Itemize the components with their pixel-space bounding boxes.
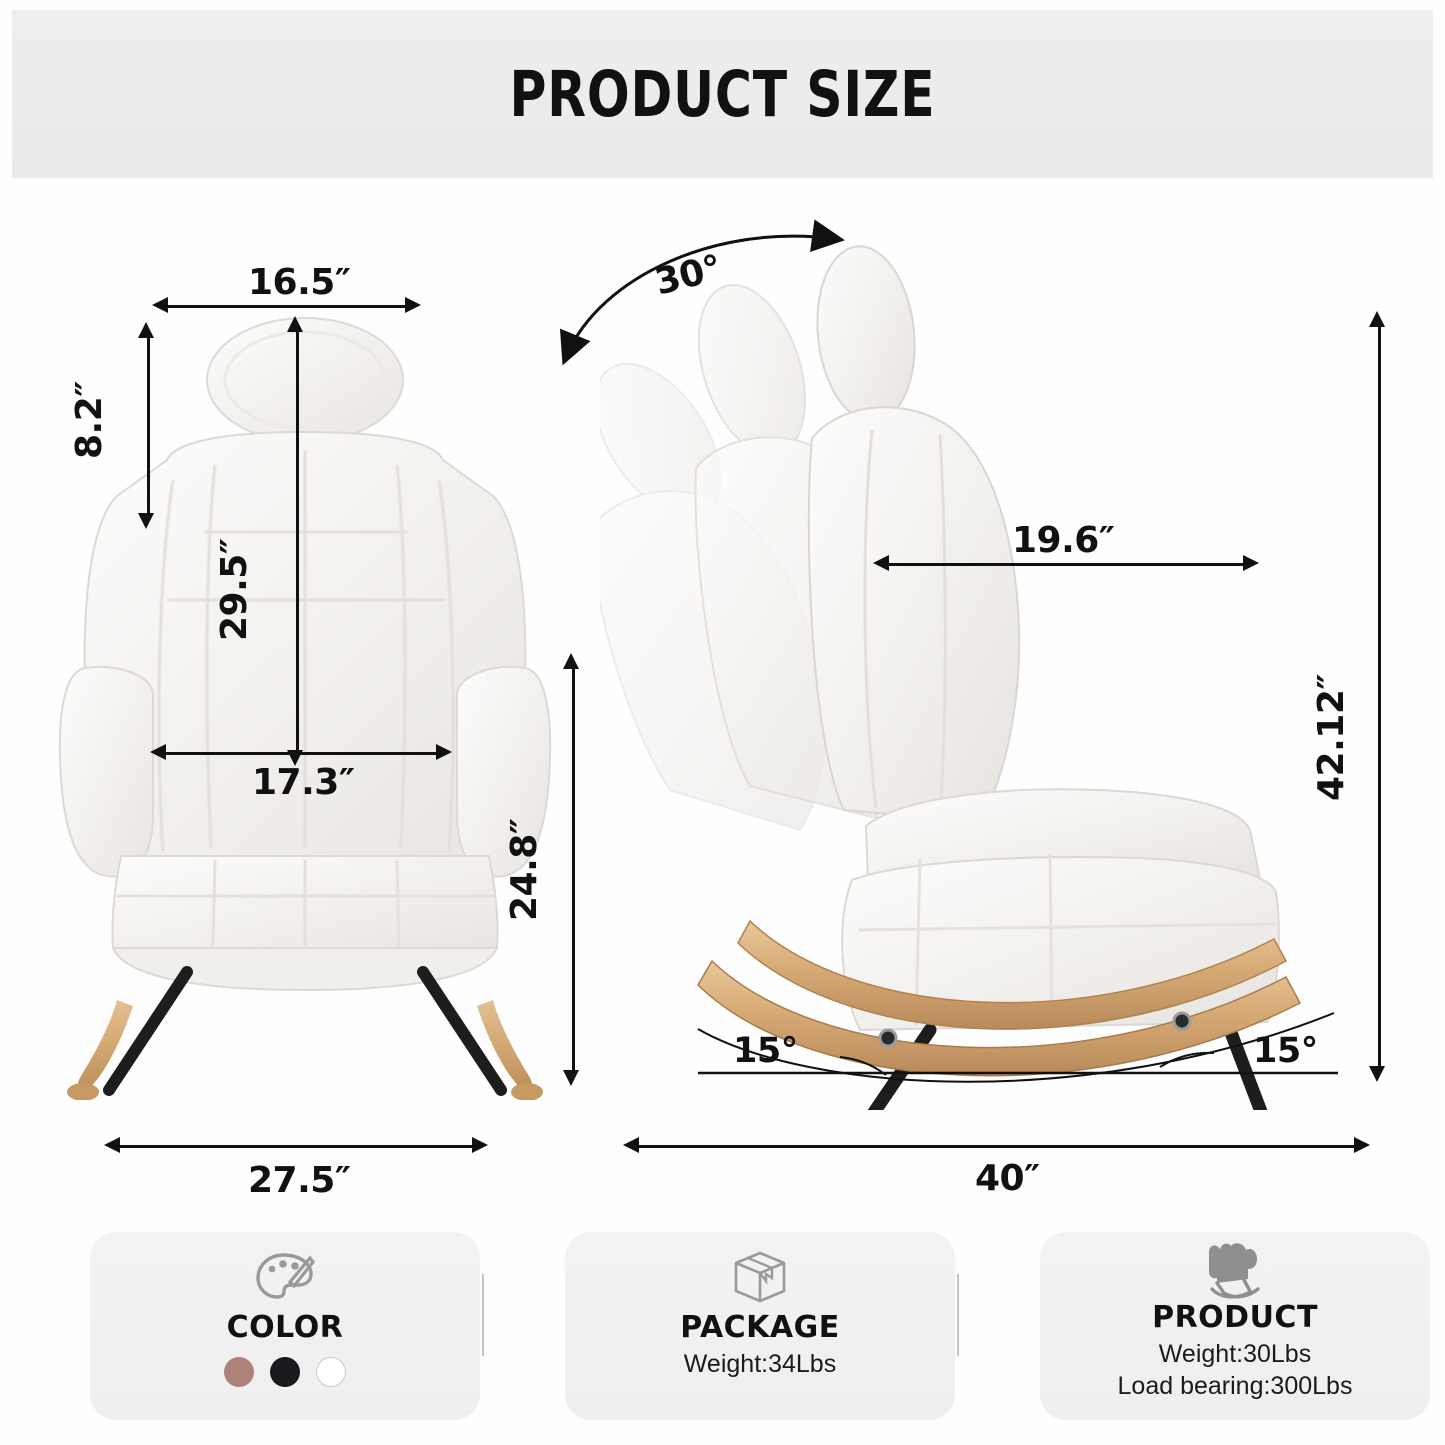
- left-arm: [60, 667, 153, 877]
- package-weight: Weight:34Lbs: [684, 1350, 836, 1379]
- page-title: PRODUCT SIZE: [154, 10, 1291, 178]
- header-band: PRODUCT SIZE: [12, 10, 1433, 178]
- side-backrest: [809, 407, 1019, 822]
- front-view-chair-illustration: [55, 300, 555, 1100]
- swatch-mauve[interactable]: [224, 1357, 254, 1387]
- dimension-label-headrest-height: 8.2″: [69, 381, 110, 459]
- dimension-label-backrest-height: 29.5″: [214, 539, 255, 641]
- card-title-product: PRODUCT: [1152, 1300, 1318, 1335]
- dimension-label-overall-width: 27.5″: [248, 1160, 350, 1201]
- color-swatches[interactable]: [224, 1357, 346, 1387]
- swatch-black[interactable]: [270, 1357, 300, 1387]
- rocker-screw-right: [1174, 1013, 1190, 1029]
- rocker-angle-arc-right: [1160, 1053, 1214, 1067]
- dimension-label-rocker-angle-right: 15°: [1253, 1031, 1318, 1071]
- palette-icon: [254, 1246, 316, 1308]
- card-divider-1: [482, 1274, 484, 1356]
- product-size-infographic: PRODUCT SIZE: [0, 0, 1445, 1445]
- dimension-label-seat-depth: 19.6″: [1012, 520, 1114, 561]
- info-cards: COLOR PACKAGE Weight:34Lbs: [0, 1232, 1445, 1422]
- dimension-label-rocker-angle-left: 15°: [733, 1031, 798, 1071]
- card-product[interactable]: PRODUCT Weight:30Lbs Load bearing:300Lbs: [1040, 1232, 1430, 1420]
- rocking-chair-icon: [1204, 1238, 1266, 1300]
- dimension-label-headrest-width: 16.5″: [248, 262, 350, 303]
- swatch-white[interactable]: [316, 1357, 346, 1387]
- headrest-cushion: [207, 318, 403, 442]
- product-load-bearing: Load bearing:300Lbs: [1118, 1372, 1353, 1401]
- product-weight: Weight:30Lbs: [1159, 1340, 1311, 1369]
- card-package[interactable]: PACKAGE Weight:34Lbs: [565, 1232, 955, 1420]
- dimension-label-seat-to-floor-height: 24.8″: [504, 819, 545, 921]
- card-color[interactable]: COLOR: [90, 1232, 480, 1420]
- dimension-recline-angle-arc: [540, 215, 860, 375]
- card-divider-2: [957, 1274, 959, 1356]
- card-title-color: COLOR: [227, 1310, 344, 1345]
- right-rocker-tip: [477, 1000, 532, 1094]
- dimension-label-overall-depth: 40″: [975, 1158, 1040, 1199]
- card-title-package: PACKAGE: [680, 1310, 840, 1345]
- left-rocker-tip: [78, 1000, 133, 1094]
- dimension-label-overall-height: 42.12″: [1311, 674, 1352, 801]
- dimension-label-seat-width: 17.3″: [252, 762, 354, 803]
- rocker-screw-left: [880, 1030, 896, 1046]
- box-icon: [731, 1246, 789, 1308]
